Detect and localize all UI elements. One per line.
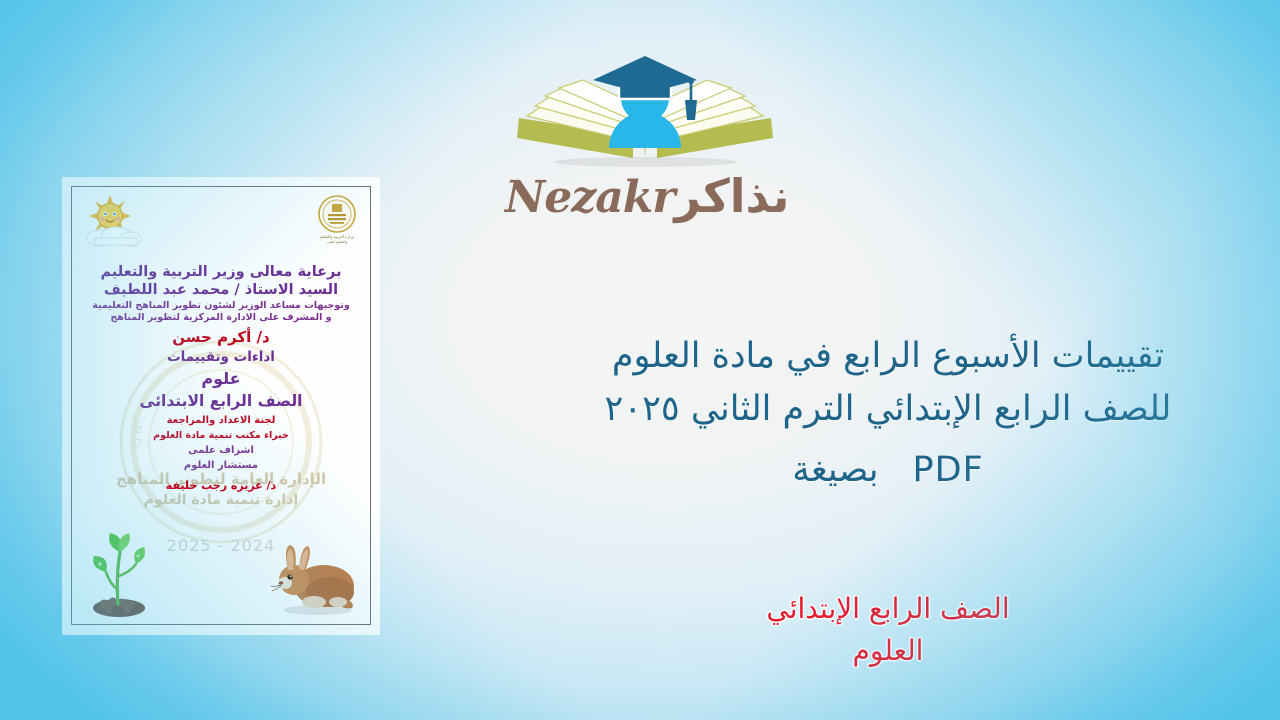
cover-patronage-line-1: برعاية معالى وزير التربية والتعليم bbox=[72, 263, 370, 281]
cover-supervision-label: اشراف علمى bbox=[72, 445, 370, 458]
svg-text:وزارة التربية والتعليم: وزارة التربية والتعليم bbox=[320, 234, 354, 239]
cover-directive-line-1: وتوجيهات مساعد الوزير لشئون تطوير المناه… bbox=[72, 300, 370, 312]
cover-directive-line-2: و المشرف على الادارة المركزية لتطوير الم… bbox=[72, 312, 370, 324]
logo-wordmark: Nezakrنذاكر bbox=[505, 168, 785, 224]
cover-patronage-line-2: السيد الاستاذ / محمد عبد اللطيف bbox=[72, 281, 370, 299]
cover-committee-title: لجنة الاعداد والمراجعة bbox=[72, 415, 370, 428]
nezakr-logo: Nezakrنذاكر bbox=[505, 46, 785, 236]
cover-doc-type: اداءات وتقييمات bbox=[72, 349, 370, 366]
subtitle-grade: الصف الرابع الإبتدائي bbox=[558, 588, 1218, 630]
svg-text:والتعليم الفنى: والتعليم الفنى bbox=[327, 240, 348, 244]
format-prefix: بصيغة bbox=[792, 450, 878, 490]
headline-line-1: تقييمات الأسبوع الرابع في مادة العلوم bbox=[558, 330, 1218, 383]
cover-inner-frame: MINISTRY OF TECHNICAL EDUCATION bbox=[71, 186, 371, 625]
logo-mark bbox=[505, 46, 785, 174]
headline-line-2: للصف الرابع الإبتدائي الترم الثاني ٢٠٢٥ bbox=[558, 383, 1218, 436]
cover-subject: علوم bbox=[72, 369, 370, 389]
page-title: تقييمات الأسبوع الرابع في مادة العلوم لل… bbox=[558, 330, 1218, 498]
cover-watermark-line-2: إدارة تنمية مادة العلوم bbox=[72, 492, 370, 508]
cover-supervisor-name: د/ أكرم حسن bbox=[72, 328, 370, 347]
ministry-emblem-icon: وزارة التربية والتعليم والتعليم الفنى bbox=[312, 193, 362, 245]
headline-line-3: PDFبصيغة bbox=[558, 444, 1218, 497]
logo-latin-text: Nezakr bbox=[505, 172, 674, 223]
slide-canvas: Nezakrنذاكر تقييمات الأسبوع الرابع في ما… bbox=[0, 0, 1280, 720]
cover-committee-members: خبراء مكتب تنمية مادة العلوم bbox=[72, 430, 370, 442]
sun-cloud-icon bbox=[80, 194, 150, 250]
subtitle-subject: العلوم bbox=[558, 630, 1218, 672]
cover-advisor-name: د/ عزيزه رجب خليفة bbox=[72, 479, 370, 493]
plant-sprout-icon bbox=[80, 524, 158, 620]
cover-grade: الصف الرابع الابتدائى bbox=[72, 392, 370, 412]
logo-arabic-text: نذاكر bbox=[674, 169, 789, 223]
format-label: PDF bbox=[913, 450, 984, 490]
cover-advisor-label: مستشار العلوم bbox=[72, 460, 370, 473]
cover-text-stack: برعاية معالى وزير التربية والتعليم السيد… bbox=[72, 263, 370, 493]
book-cover-thumbnail[interactable]: MINISTRY OF TECHNICAL EDUCATION bbox=[62, 177, 380, 635]
rabbit-icon bbox=[268, 540, 360, 618]
subtitle-block: الصف الرابع الإبتدائي العلوم bbox=[558, 588, 1218, 672]
